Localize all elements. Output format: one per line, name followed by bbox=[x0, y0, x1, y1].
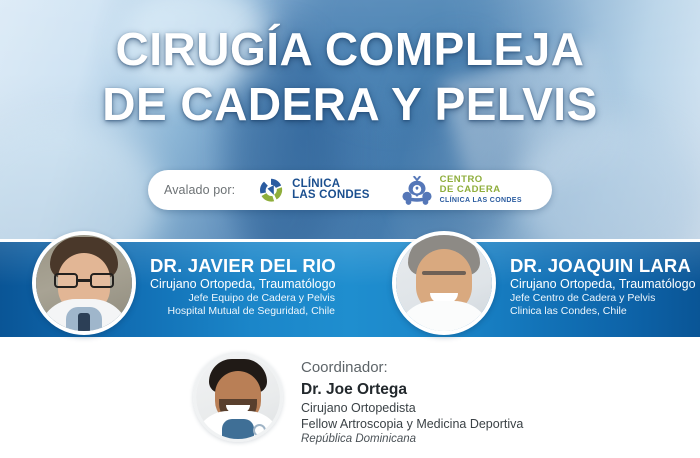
glasses-icon bbox=[54, 273, 114, 288]
endorsement-bar: Avalado por: CLÍNICA LAS CONDES bbox=[148, 170, 552, 210]
logo-centro-de-cadera: CENTRO DE CADERA CLÍNICA LAS CONDES bbox=[400, 175, 522, 205]
coordinator-line-1: Cirujano Ortopedista bbox=[301, 400, 523, 416]
speaker-role: Cirujano Ortopeda, Traumatólogo bbox=[510, 277, 695, 292]
speaker-name: DR. JOAQUIN LARA bbox=[510, 255, 695, 276]
speaker-sub-1: Jefe Equipo de Cadera y Pelvis bbox=[150, 292, 335, 305]
recycle-circle-icon bbox=[257, 176, 285, 204]
hip-pelvis-icon bbox=[400, 175, 434, 205]
speaker-sub-1: Jefe Centro de Cadera y Pelvis bbox=[510, 292, 695, 305]
tie-shape bbox=[78, 313, 90, 335]
brow-shape bbox=[422, 271, 466, 275]
coordinator-name: Dr. Joe Ortega bbox=[301, 380, 523, 400]
logo-clc-line2: LAS CONDES bbox=[292, 190, 369, 202]
coordinator-country: República Dominicana bbox=[301, 432, 523, 447]
avatar bbox=[32, 231, 136, 335]
avatar bbox=[392, 231, 496, 335]
speaker-info-1: DR. JAVIER DEL RIO Cirujano Ortopeda, Tr… bbox=[150, 255, 335, 317]
speaker-role: Cirujano Ortopeda, Traumatólogo bbox=[150, 277, 335, 292]
logo-cad-line3: CLÍNICA LAS CONDES bbox=[440, 196, 522, 206]
speaker-name: DR. JAVIER DEL RIO bbox=[150, 255, 335, 276]
doctor-photo-joaquin-lara bbox=[396, 235, 492, 331]
logo-centro-text: CENTRO DE CADERA CLÍNICA LAS CONDES bbox=[440, 175, 522, 205]
title-line-1: CIRUGÍA COMPLEJA bbox=[116, 23, 585, 75]
avatar bbox=[193, 352, 283, 442]
doctor-photo-joe-ortega bbox=[196, 355, 280, 439]
endorsement-label: Avalado por: bbox=[164, 183, 235, 197]
coordinator-section: Coordinador: Dr. Joe Ortega Cirujano Ort… bbox=[193, 352, 533, 452]
coordinator-label: Coordinador: bbox=[301, 358, 523, 378]
coat-shape bbox=[396, 301, 492, 335]
badge-shape bbox=[253, 424, 266, 437]
logo-cad-line2: DE CADERA bbox=[440, 185, 522, 195]
coordinator-info: Coordinador: Dr. Joe Ortega Cirujano Ort… bbox=[301, 358, 523, 447]
speaker-info-2: DR. JOAQUIN LARA Cirujano Ortopeda, Trau… bbox=[510, 255, 695, 317]
poster-root: CIRUGÍA COMPLEJA DE CADERA Y PELVIS Aval… bbox=[0, 0, 700, 458]
coordinator-line-2: Fellow Artroscopia y Medicina Deportiva bbox=[301, 416, 523, 432]
logo-clinica-las-condes: CLÍNICA LAS CONDES bbox=[257, 176, 369, 204]
scrubs-shape bbox=[222, 419, 254, 442]
logo-clinica-text: CLÍNICA LAS CONDES bbox=[292, 179, 369, 202]
speaker-sub-2: Clinica las Condes, Chile bbox=[510, 305, 695, 318]
doctor-photo-javier-del-rio bbox=[36, 235, 132, 331]
speaker-sub-2: Hospital Mutual de Seguridad, Chile bbox=[150, 305, 335, 318]
title-line-2: DE CADERA Y PELVIS bbox=[0, 77, 700, 132]
page-title: CIRUGÍA COMPLEJA DE CADERA Y PELVIS bbox=[0, 22, 700, 132]
